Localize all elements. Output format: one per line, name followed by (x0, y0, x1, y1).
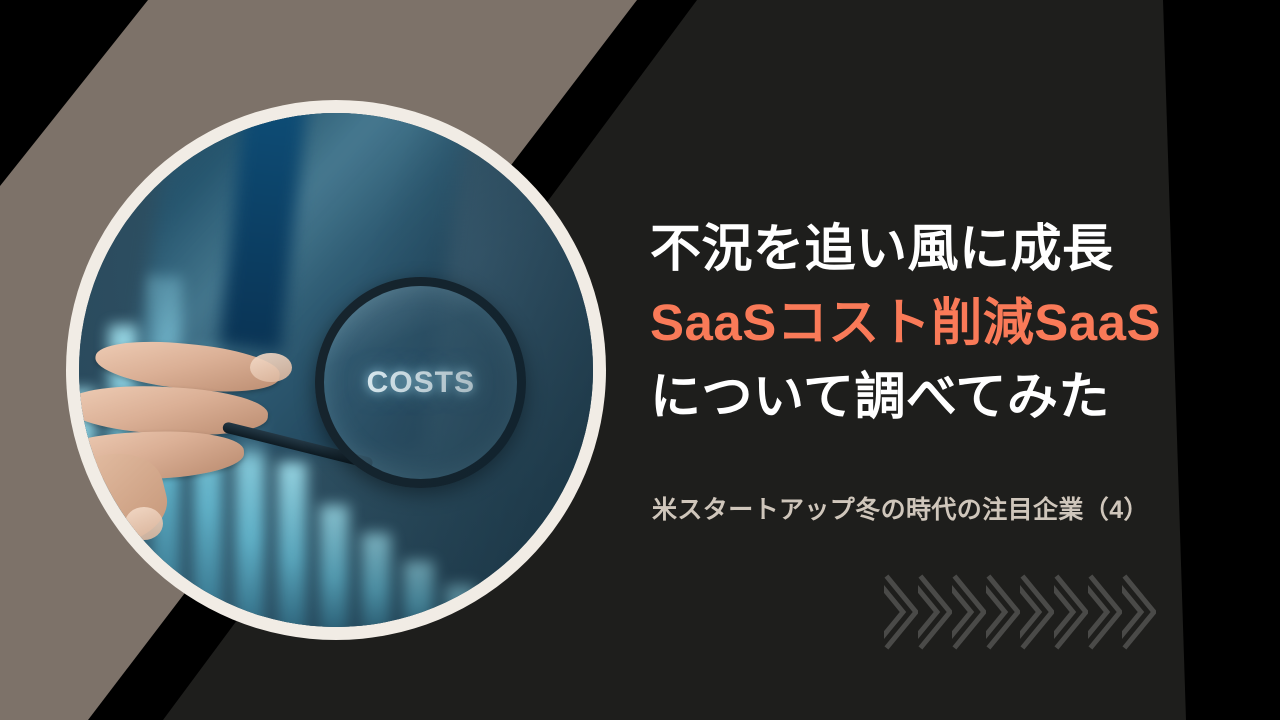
chevron-right-icon (1122, 574, 1156, 650)
chevron-right-icon (884, 574, 918, 650)
chevron-right-icon (986, 574, 1020, 650)
hero-photo: COSTS (79, 113, 593, 627)
headline-line-3: について調べてみた (650, 360, 1240, 434)
chevron-right-icon (1020, 574, 1054, 650)
headline-line-1: 不況を追い風に成長 (650, 212, 1240, 286)
subtitle: 米スタートアップ冬の時代の注目企業（4） (652, 490, 1149, 526)
chevron-right-icon (952, 574, 986, 650)
chevron-right-icon (918, 574, 952, 650)
photo-vignette (79, 113, 593, 627)
headline-line-2: SaaSコスト削減SaaS (650, 286, 1240, 360)
chevron-row (884, 568, 1264, 656)
chevron-right-icon (1088, 574, 1122, 650)
headline-block: 不況を追い風に成長 SaaSコスト削減SaaS について調べてみた (650, 212, 1240, 434)
chevron-right-icon (1054, 574, 1088, 650)
slide-canvas: COSTS 不況を追い風に成長 SaaSコスト削減SaaS について調べてみた … (0, 0, 1280, 720)
hero-photo-circle: COSTS (66, 100, 606, 640)
